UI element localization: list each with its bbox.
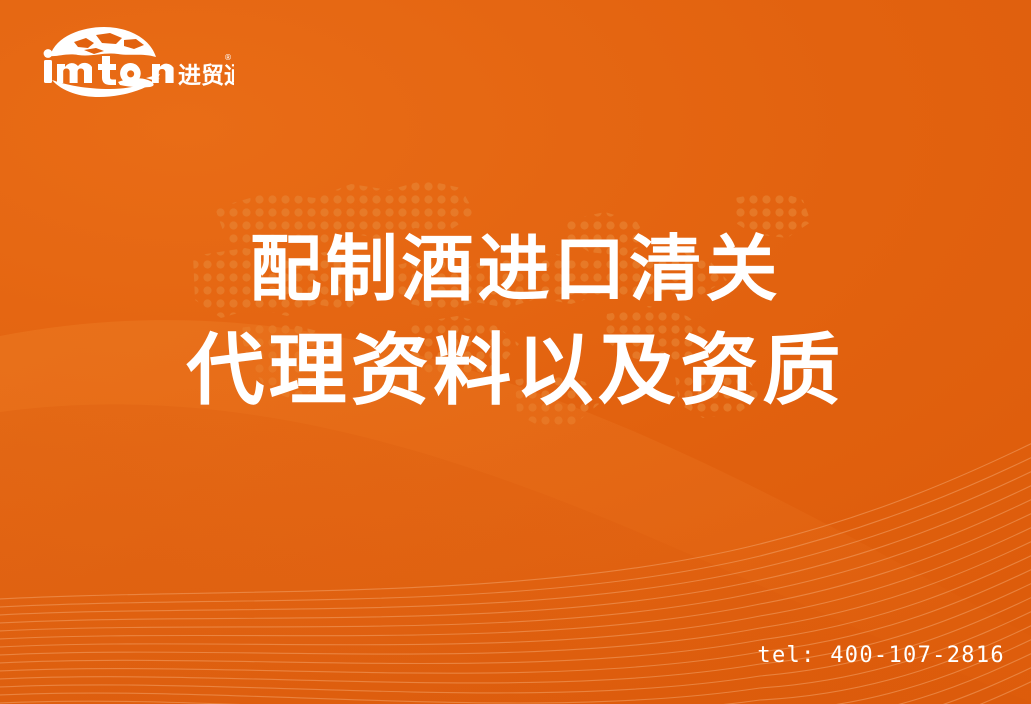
promo-banner: 进贸通 ® 配制酒进口清关 代理资料以及资质 tel: 400-107-2816 [0, 0, 1031, 704]
logo-trademark-symbol: ® [224, 53, 232, 62]
logo-chinese-name: 进贸通 [178, 63, 234, 89]
headline-line-1: 配制酒进口清关 [0, 222, 1031, 318]
headline: 配制酒进口清关 代理资料以及资质 [0, 222, 1031, 422]
company-logo[interactable]: 进贸通 ® [38, 30, 234, 100]
headline-line-2: 代理资料以及资质 [0, 318, 1031, 422]
contact-telephone: tel: 400-107-2816 [757, 643, 1005, 668]
globe-logo-icon: 进贸通 ® [38, 26, 234, 100]
